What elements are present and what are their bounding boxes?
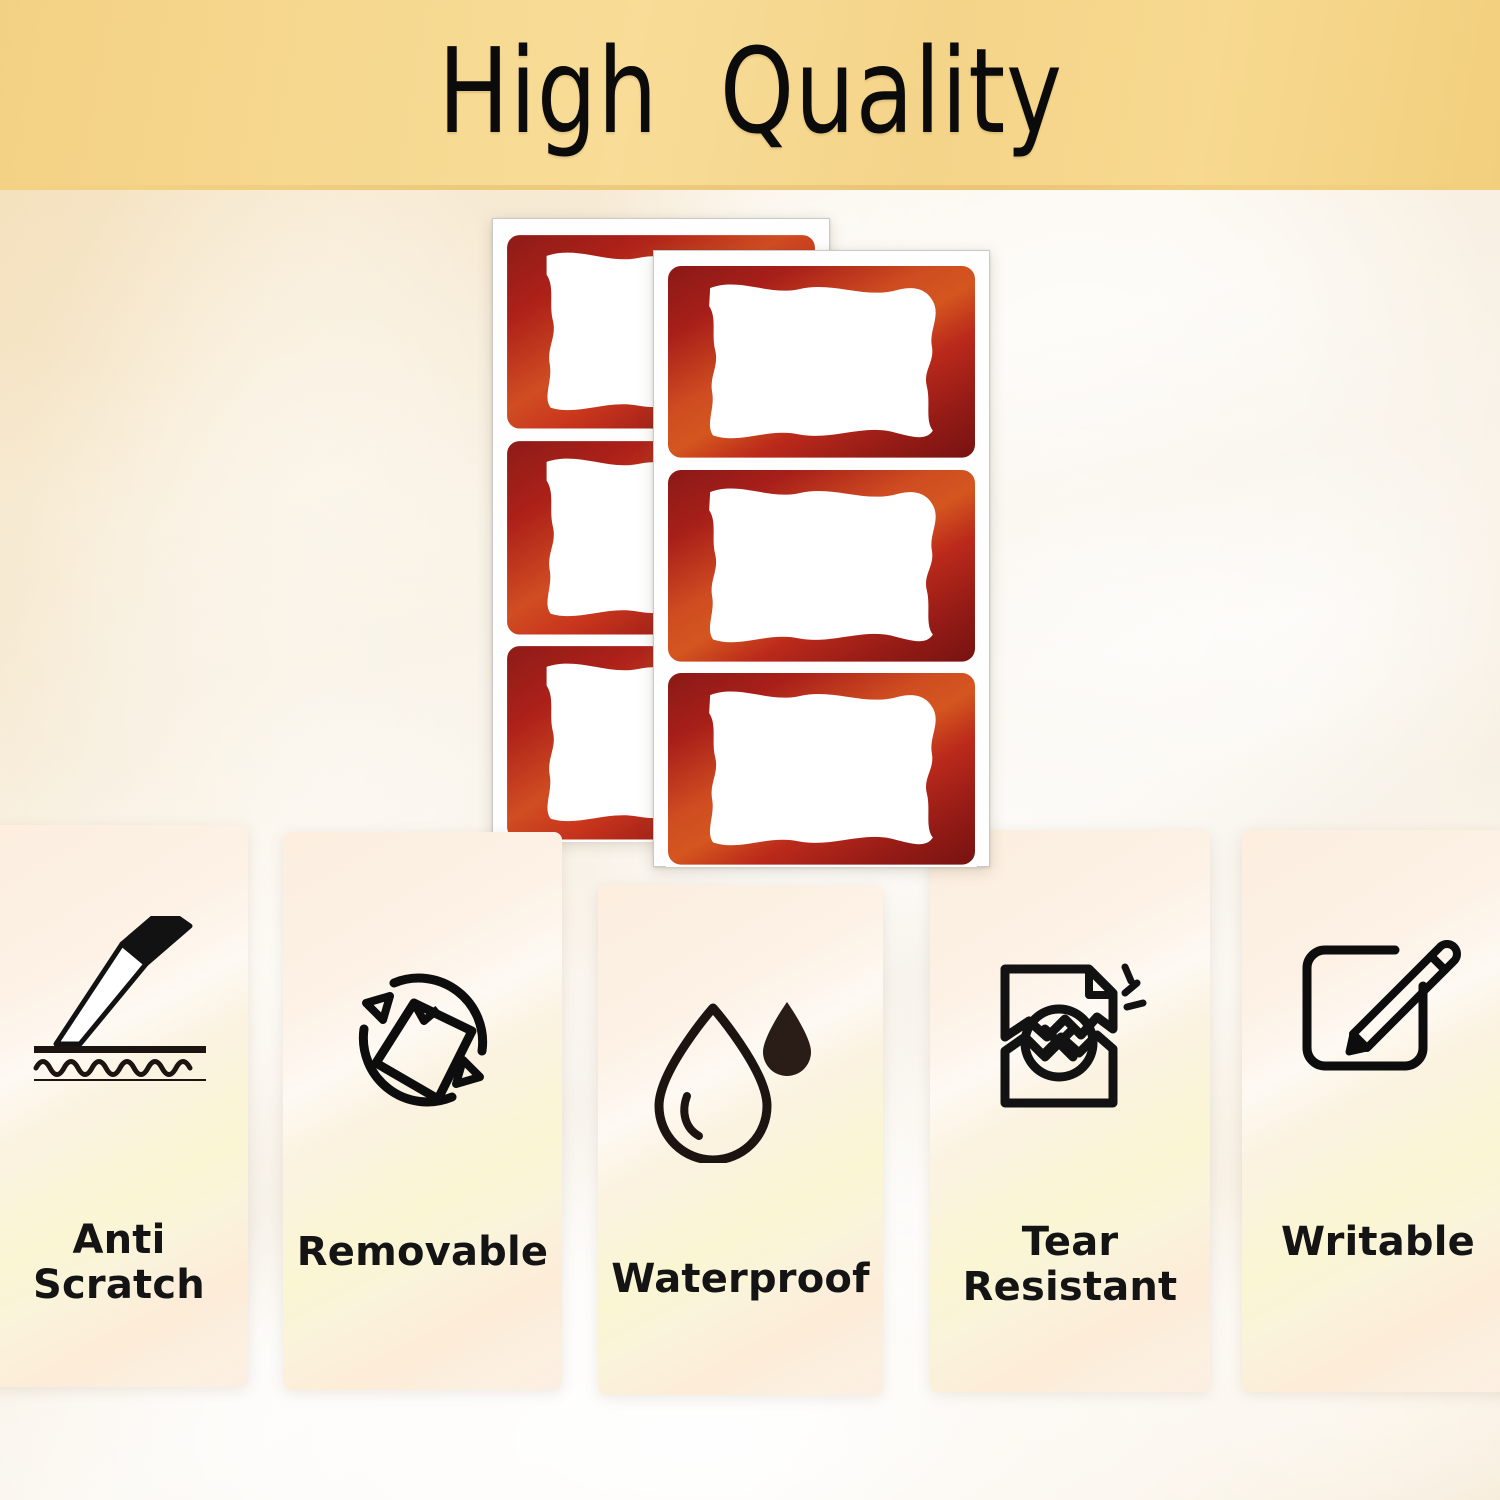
header-banner: High Quality	[0, 0, 1500, 190]
label-sticker	[666, 264, 977, 460]
product-image-canvas: High Quality	[0, 0, 1500, 1500]
water-droplet-icon	[598, 985, 883, 1165]
label-sticker	[666, 468, 977, 664]
label-sticker	[666, 671, 977, 867]
feature-label: Removable	[283, 1230, 562, 1275]
knife-scratch-icon	[0, 903, 248, 1093]
feature-label: Waterproof	[598, 1257, 883, 1302]
feature-card-waterproof[interactable]: Waterproof	[598, 885, 883, 1395]
label-sheet-front	[653, 250, 990, 867]
feature-card-writable[interactable]: Writable	[1242, 830, 1500, 1392]
page-title: High Quality	[438, 32, 1063, 150]
feature-label: Writable	[1242, 1220, 1500, 1265]
feature-label: Tear Resistant	[930, 1220, 1210, 1310]
pencil-square-icon	[1242, 925, 1500, 1100]
torn-paper-x-icon	[930, 950, 1210, 1120]
feature-card-anti-scratch[interactable]: Anti Scratch	[0, 825, 248, 1387]
feature-label: Anti Scratch	[0, 1218, 248, 1308]
recycle-tag-icon	[283, 957, 562, 1122]
feature-card-removable[interactable]: Removable	[283, 832, 562, 1390]
card-sheen	[1242, 830, 1500, 1392]
feature-card-tear-resistant[interactable]: Tear Resistant	[930, 830, 1210, 1392]
